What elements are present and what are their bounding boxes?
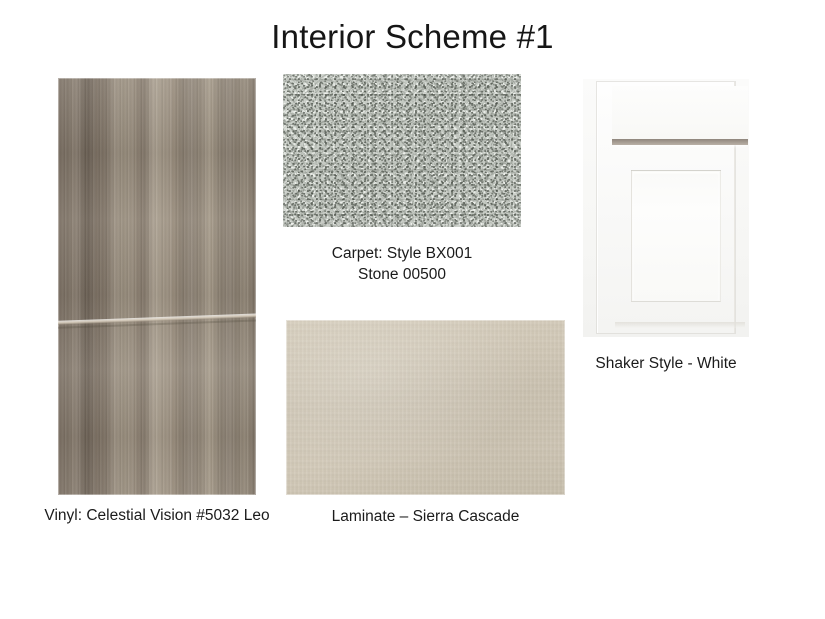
carpet-caption-line-1: Carpet: Style BX001: [332, 245, 472, 262]
cabinet-recessed-panel: [631, 170, 721, 302]
carpet-caption-line-2: Stone 00500: [358, 266, 446, 283]
cabinet-bottom-rail-shadow: [615, 322, 745, 328]
cabinet-caption: Shaker Style - White: [575, 353, 757, 374]
cabinet-door-swatch[interactable]: [583, 79, 749, 337]
vinyl-plank-seam: [58, 313, 256, 325]
vinyl-caption: Vinyl: Celestial Vision #5032 Leo: [0, 505, 314, 526]
cabinet-drawer-face: [612, 86, 748, 140]
cabinet-door-frame: [597, 82, 735, 333]
carpet-swatch[interactable]: [283, 74, 521, 227]
laminate-swatch[interactable]: [286, 320, 565, 495]
vinyl-plank-seam-shadow: [58, 319, 256, 329]
vinyl-plank-swatch[interactable]: [58, 78, 256, 495]
laminate-caption: Laminate – Sierra Cascade: [286, 506, 565, 527]
cabinet-drawer-reveal: [612, 139, 748, 145]
carpet-caption: Carpet: Style BX001Stone 00500: [284, 243, 520, 285]
page-title: Interior Scheme #1: [0, 16, 825, 58]
